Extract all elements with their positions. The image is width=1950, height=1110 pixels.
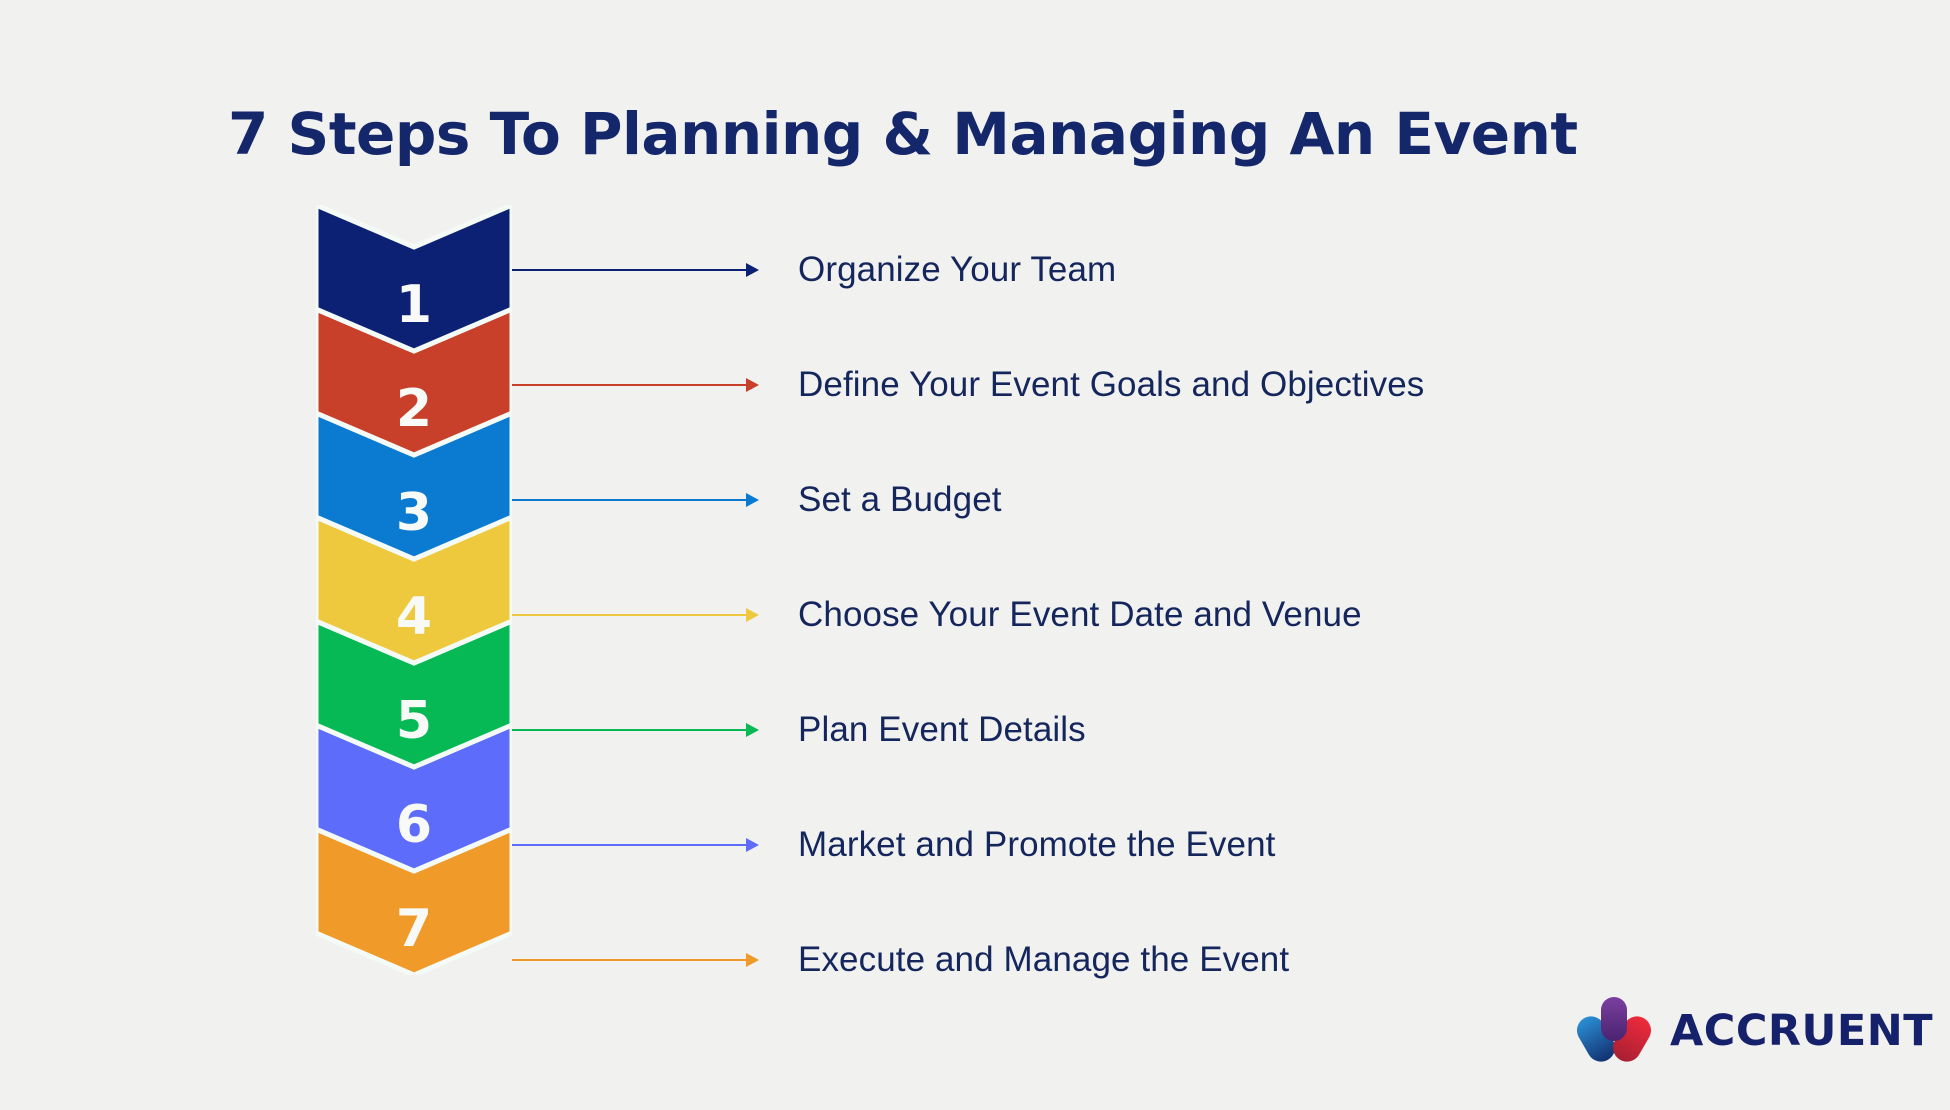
page-title: 7 Steps To Planning & Managing An Event [228, 101, 1628, 168]
brand-logo: ACCRUENT [1574, 990, 1933, 1072]
connector-row-5: Plan Event Details [512, 700, 1812, 760]
connector-arrowhead-icon-7 [746, 953, 759, 967]
step-label-6: Market and Promote the Event [798, 815, 1276, 875]
chevron-stack: 1234567 [316, 205, 512, 865]
chevron-step-1[interactable]: 1 [316, 205, 512, 351]
connector-line-3 [512, 499, 752, 501]
connector-line-7 [512, 959, 752, 961]
connector-arrowhead-icon-6 [746, 838, 759, 852]
connector-arrowhead-icon-4 [746, 608, 759, 622]
brand-wordmark: ACCRUENT [1670, 1010, 1933, 1053]
connector-arrowhead-icon-3 [746, 493, 759, 507]
connector-row-6: Market and Promote the Event [512, 815, 1812, 875]
connector-line-4 [512, 614, 752, 616]
connector-row-7: Execute and Manage the Event [512, 930, 1812, 990]
step-label-3: Set a Budget [798, 470, 1002, 530]
connector-line-2 [512, 384, 752, 386]
connector-row-3: Set a Budget [512, 470, 1812, 530]
infographic-canvas: 7 Steps To Planning & Managing An Event … [0, 0, 1950, 1110]
connector-row-1: Organize Your Team [512, 240, 1812, 300]
chevron-shape-1 [316, 205, 512, 351]
step-label-1: Organize Your Team [798, 240, 1116, 300]
step-label-7: Execute and Manage the Event [798, 930, 1289, 990]
connector-arrowhead-icon-5 [746, 723, 759, 737]
connector-arrowhead-icon-2 [746, 378, 759, 392]
connector-line-5 [512, 729, 752, 731]
connector-line-1 [512, 269, 752, 271]
step-label-2: Define Your Event Goals and Objectives [798, 355, 1424, 415]
connector-row-2: Define Your Event Goals and Objectives [512, 355, 1812, 415]
step-label-5: Plan Event Details [798, 700, 1086, 760]
connector-row-4: Choose Your Event Date and Venue [512, 585, 1812, 645]
connector-arrowhead-icon-1 [746, 263, 759, 277]
accruent-logo-mark-icon [1574, 995, 1654, 1067]
step-label-4: Choose Your Event Date and Venue [798, 585, 1362, 645]
connector-line-6 [512, 844, 752, 846]
